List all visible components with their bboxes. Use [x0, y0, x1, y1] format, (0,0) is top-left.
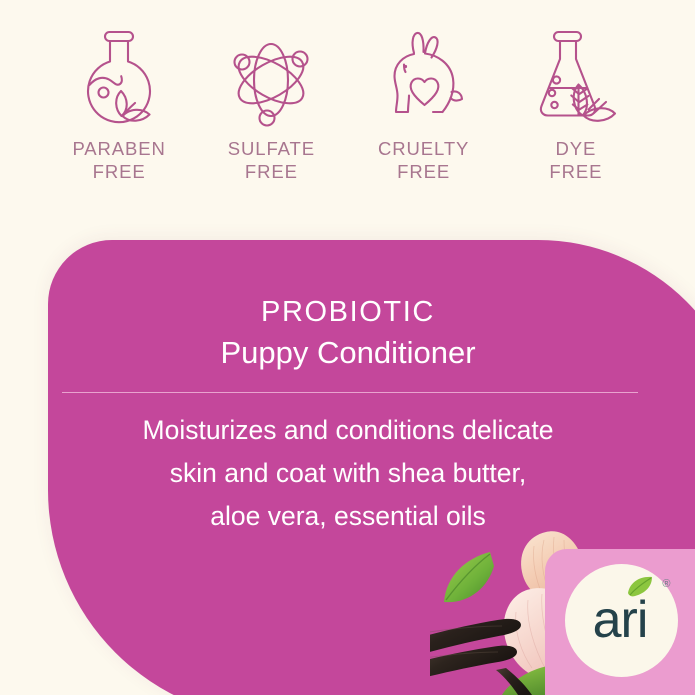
product-marketing-image: PARABEN FREE SULFATE FREE [0, 0, 695, 695]
brand-logo-badge: ari ® [545, 549, 695, 695]
logo-disc: ari ® [565, 564, 678, 677]
product-kicker: PROBIOTIC [48, 295, 648, 330]
rabbit-heart-icon [378, 26, 470, 130]
atom-molecule-icon [225, 26, 317, 130]
erlenmeyer-flask-leaf-icon [530, 26, 622, 130]
claim-badge-paraben-free: PARABEN FREE [54, 26, 184, 183]
leaf-icon [627, 576, 653, 598]
claim-badge-sulfate-free: SULFATE FREE [206, 26, 336, 183]
claim-label: DYE FREE [549, 138, 602, 183]
divider [62, 392, 638, 393]
claim-label: SULFATE FREE [228, 138, 315, 183]
panel-content: PROBIOTIC Puppy Conditioner Moisturizes … [48, 240, 648, 538]
claim-label: CRUELTY FREE [378, 138, 469, 183]
claim-badge-cruelty-free: CRUELTY FREE [359, 26, 489, 183]
product-description: Moisturizes and conditions delicate skin… [48, 409, 648, 538]
logo-wordmark: ari [593, 594, 650, 646]
claim-label: PARABEN FREE [72, 138, 165, 183]
flask-leaf-icon [73, 26, 165, 130]
claim-badge-dye-free: DYE FREE [511, 26, 641, 183]
registered-trademark-mark: ® [662, 578, 670, 590]
claims-row: PARABEN FREE SULFATE FREE [0, 26, 695, 201]
product-title: Puppy Conditioner [48, 333, 648, 373]
